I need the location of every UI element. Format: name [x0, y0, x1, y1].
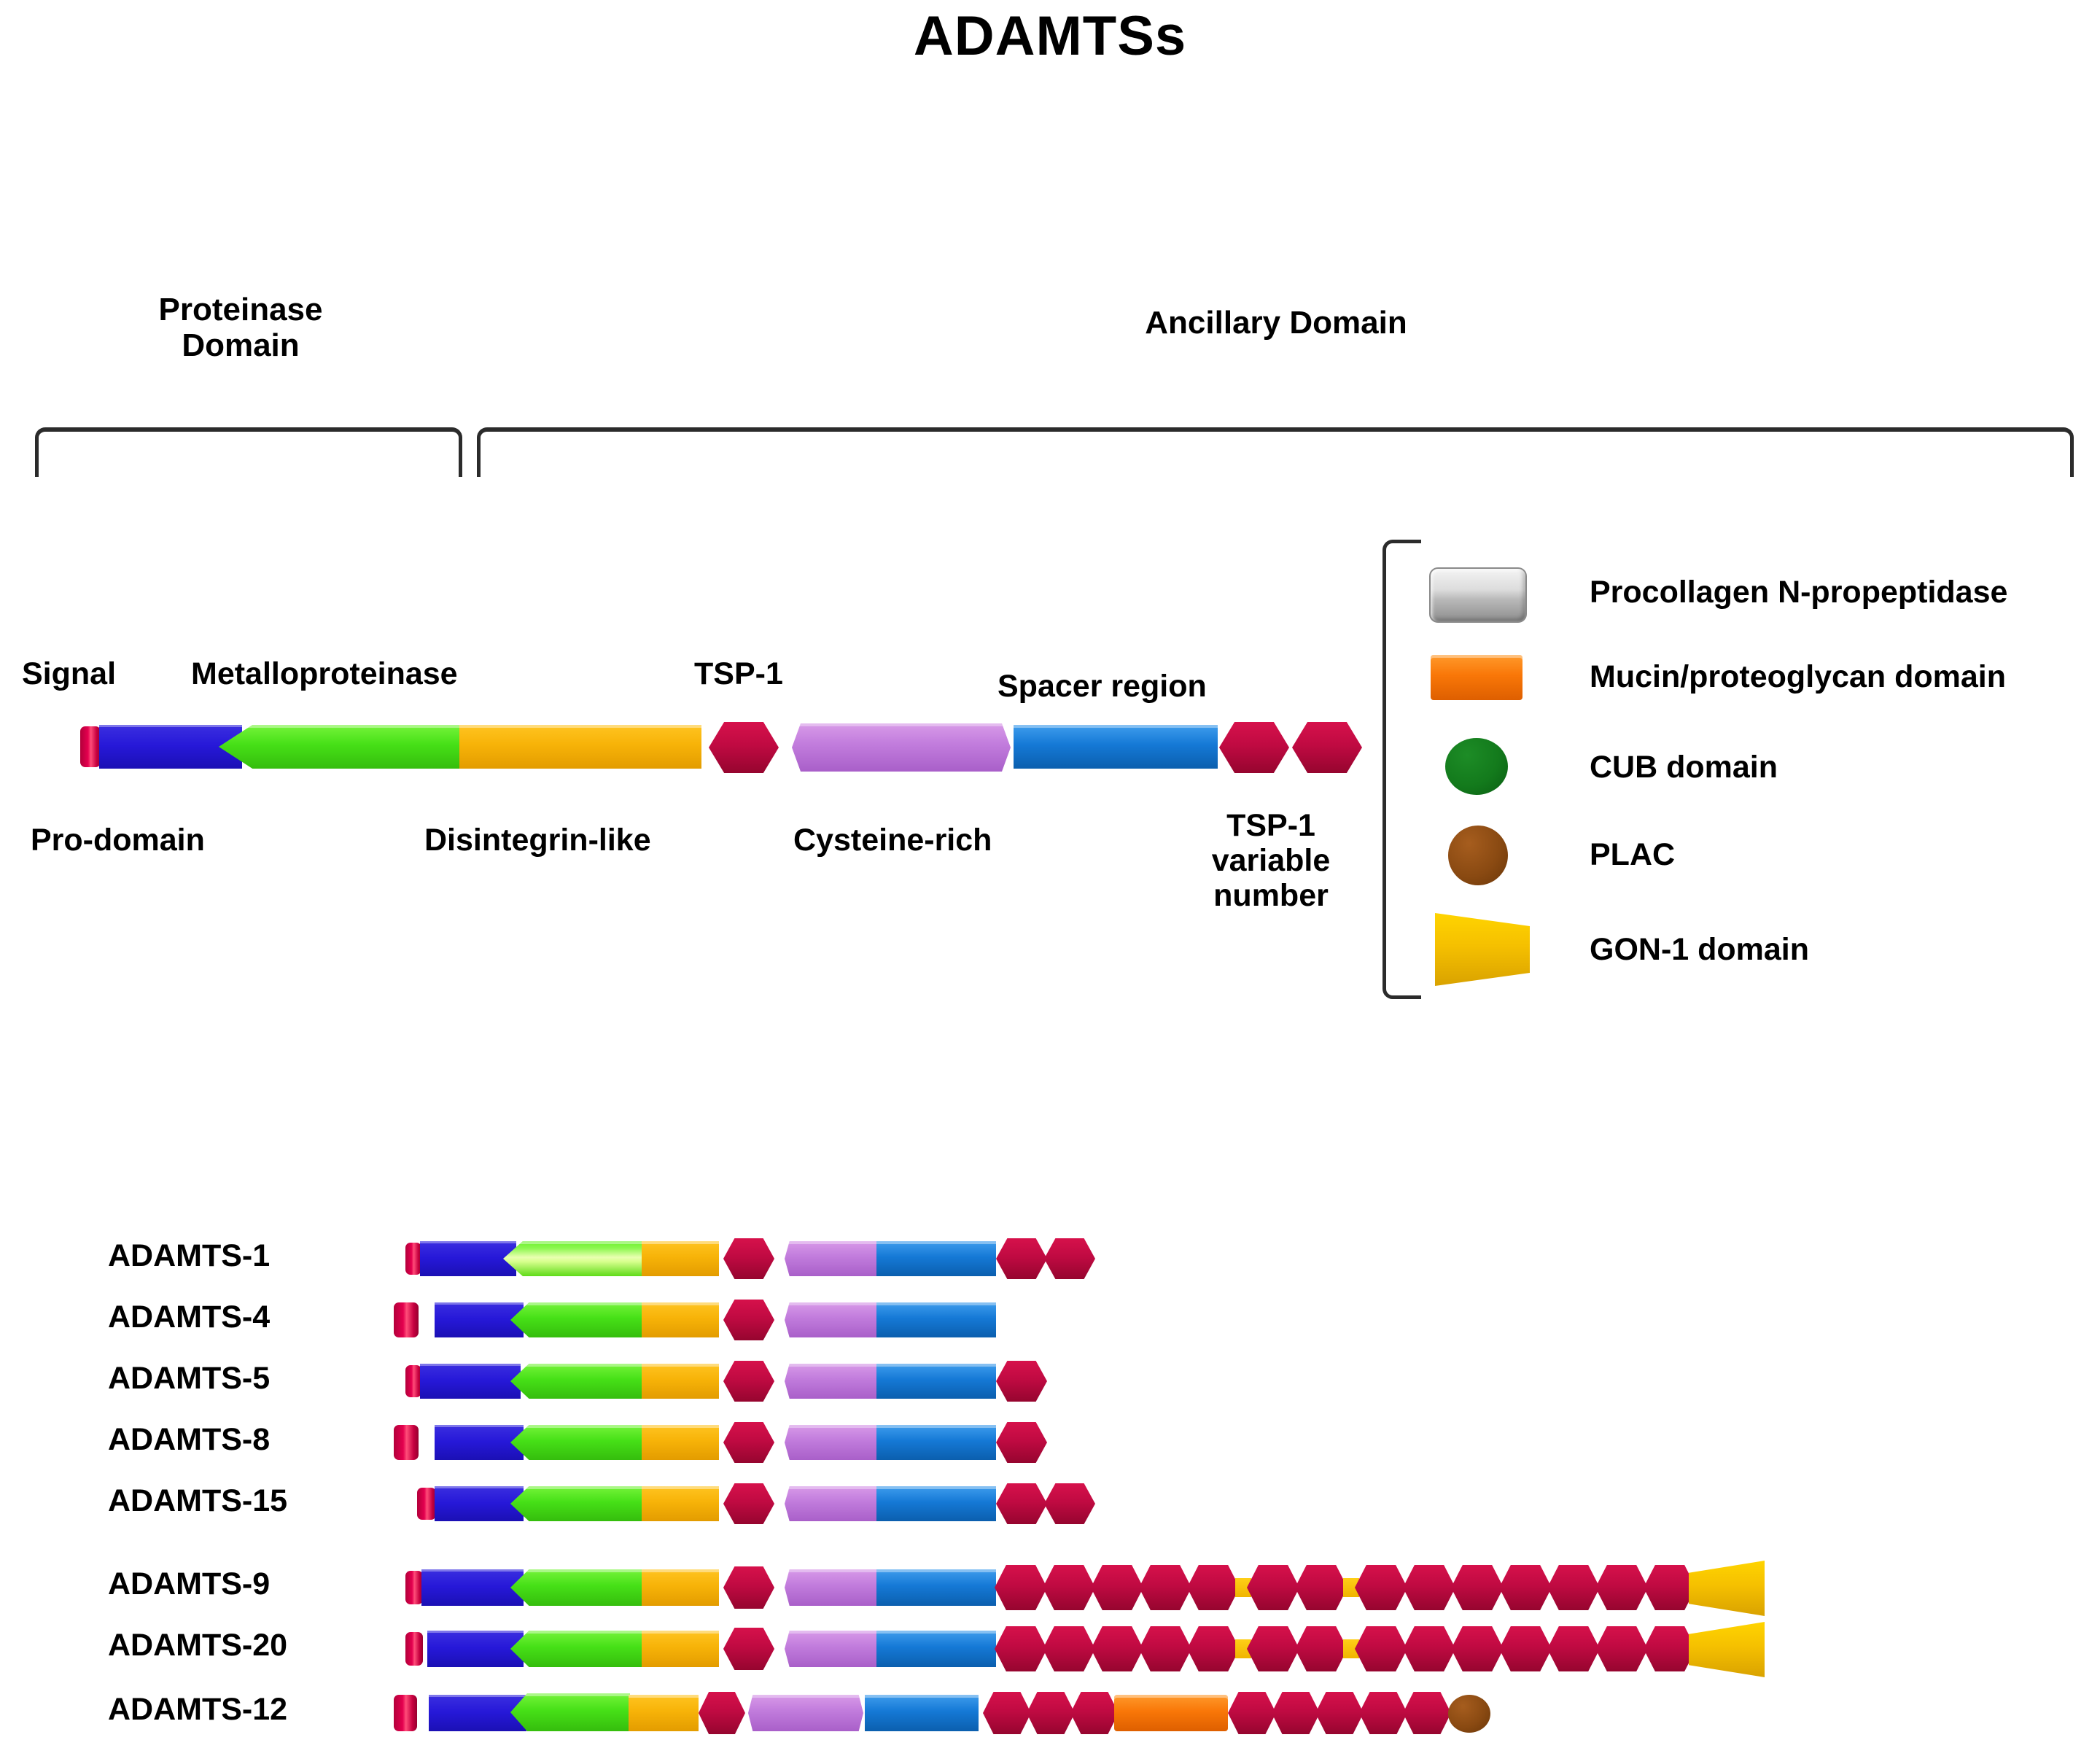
spacer-region-shape	[876, 1302, 996, 1337]
isoform-row-adamts-1: ADAMTS-1	[0, 1232, 2100, 1288]
tsp1-repeat-shape	[1295, 1626, 1347, 1671]
pro-domain-shape	[421, 1569, 524, 1606]
tsp1-repeat-shape	[1451, 1565, 1504, 1610]
tsp1-repeat-shape	[1091, 1626, 1143, 1671]
disintegrin-like-shape	[629, 1695, 699, 1731]
metalloproteinase-shape	[510, 1486, 643, 1521]
pro-domain-label: Pro-domain	[31, 823, 205, 858]
tsp1-repeat-shape	[723, 1566, 774, 1609]
metalloproteinase-shape	[503, 1241, 643, 1276]
isoform-label: ADAMTS-8	[108, 1422, 270, 1458]
pro-domain-shape	[427, 1631, 524, 1667]
tsp1-variable-number-label: TSP-1 variable number	[1180, 808, 1362, 913]
tsp1-repeat-shape	[1139, 1565, 1191, 1610]
cysteine-rich-shape	[792, 723, 1011, 772]
signal-peptide-shape	[405, 1571, 423, 1604]
tsp1-variable-number-line2: variable	[1180, 843, 1362, 878]
tsp1-repeat-shape	[723, 1300, 774, 1340]
disintegrin-like-shape	[642, 1569, 719, 1606]
tsp1-repeat-shape	[1295, 1565, 1347, 1610]
tsp1-repeat-shape	[996, 1483, 1047, 1524]
metalloproteinase-shape	[510, 1302, 643, 1337]
tsp1-repeat-shape	[1070, 1692, 1119, 1734]
tsp1-repeat-shape	[995, 1565, 1047, 1610]
signal-label: Signal	[22, 656, 116, 692]
disintegrin-like-shape	[642, 1486, 719, 1521]
signal-peptide-shape	[394, 1425, 419, 1460]
tsp1-repeat-shape	[1228, 1692, 1276, 1734]
tsp1-repeat-shape	[1247, 1565, 1299, 1610]
tsp1-repeat-shape	[1403, 1692, 1451, 1734]
tsp1-repeat-shape	[1027, 1692, 1075, 1734]
tsp1-repeat-shape	[723, 1628, 774, 1670]
disintegrin-like-shape	[642, 1302, 719, 1337]
plac-shape	[1448, 1695, 1490, 1733]
isoform-label: ADAMTS-15	[108, 1483, 287, 1519]
isoform-label: ADAMTS-4	[108, 1300, 270, 1335]
page-title: ADAMTSs	[0, 4, 2100, 68]
disintegrin-like-shape	[642, 1364, 719, 1399]
isoform-row-adamts-12: ADAMTS-12	[0, 1685, 2100, 1740]
spacer-region-shape	[876, 1425, 996, 1460]
tsp1-repeat-shape	[1315, 1692, 1364, 1734]
tsp1-repeat-shape	[709, 722, 779, 773]
tsp1-repeat-shape	[1355, 1565, 1407, 1610]
spacer-region-shape	[1014, 725, 1218, 769]
tsp1-repeat-shape	[1091, 1565, 1143, 1610]
mucin-proteoglycan-domain-swatch	[1431, 655, 1522, 700]
legend-label-gon1-domain: GON-1 domain	[1590, 932, 1809, 968]
ancillary-domain-bracket	[477, 427, 2074, 477]
proteinase-domain-label: Proteinase Domain	[80, 292, 401, 364]
metalloproteinase-label: Metalloproteinase	[191, 656, 458, 692]
tsp1-repeat-shape	[1595, 1565, 1648, 1610]
isoform-row-adamts-4: ADAMTS-4	[0, 1294, 2100, 1349]
isoform-label: ADAMTS-5	[108, 1361, 270, 1397]
ancillary-domain-label: Ancillary Domain	[875, 305, 1677, 341]
spacer-region-shape	[876, 1241, 996, 1276]
tsp1-repeat-shape	[723, 1483, 774, 1524]
isoform-label: ADAMTS-20	[108, 1628, 287, 1663]
cub-domain-swatch	[1445, 738, 1508, 795]
isoform-list: ADAMTS-1 ADAMTS-4 ADAMTS-5 ADAMTS-8	[0, 1232, 2100, 1739]
tsp1-repeat-shape	[996, 1361, 1047, 1402]
tsp1-repeat-shape	[1272, 1692, 1320, 1734]
tsp1-repeat-shape	[1547, 1626, 1600, 1671]
isoform-label: ADAMTS-12	[108, 1692, 287, 1728]
signal-peptide-shape	[394, 1695, 417, 1731]
tsp1-repeat-shape	[1355, 1626, 1407, 1671]
procollagen-n-propeptidase-swatch	[1429, 567, 1527, 623]
proteinase-domain-label-line2: Domain	[80, 327, 401, 363]
tsp1-variable-number-line1: TSP-1	[1180, 808, 1362, 843]
tsp1-repeat-shape	[996, 1422, 1047, 1463]
isoform-row-adamts-8: ADAMTS-8	[0, 1416, 2100, 1472]
legend-label-cub-domain: CUB domain	[1590, 750, 1778, 785]
tsp1-repeat-shape	[1139, 1626, 1191, 1671]
tsp1-repeat-shape	[995, 1626, 1047, 1671]
tsp1-repeat-shape	[1595, 1626, 1648, 1671]
tsp1-repeat-shape	[1187, 1626, 1240, 1671]
tsp1-repeat-shape	[1247, 1626, 1299, 1671]
tsp1-repeat-shape	[699, 1692, 745, 1734]
spacer-region-shape	[876, 1569, 996, 1606]
pro-domain-shape	[420, 1241, 516, 1276]
metalloproteinase-shape	[510, 1425, 643, 1460]
signal-peptide-shape	[405, 1632, 423, 1666]
gon1-domain-swatch	[1435, 913, 1530, 986]
tsp1-repeat-shape	[1499, 1626, 1552, 1671]
tsp1-repeat-shape	[1644, 1626, 1696, 1671]
tsp1-repeat-shape	[1044, 1238, 1095, 1279]
gon1-domain-shape	[1689, 1622, 1765, 1677]
signal-peptide-shape	[405, 1243, 421, 1275]
tsp1-repeat-shape	[1644, 1565, 1696, 1610]
tsp1-repeat-shape	[1043, 1565, 1095, 1610]
tsp1-repeat-shape	[1403, 1565, 1455, 1610]
pro-domain-shape	[435, 1486, 524, 1521]
tsp1-repeat-shape	[1043, 1626, 1095, 1671]
tsp1-repeat-shape	[723, 1422, 774, 1463]
pro-domain-shape	[435, 1302, 524, 1337]
signal-peptide-shape	[417, 1488, 436, 1520]
tsp1-repeat-shape	[723, 1361, 774, 1402]
spacer-region-shape	[876, 1364, 996, 1399]
metalloproteinase-shape	[510, 1693, 630, 1731]
tsp1-repeat-shape	[983, 1692, 1031, 1734]
spacer-region-shape	[876, 1486, 996, 1521]
cysteine-rich-shape	[748, 1695, 863, 1731]
disintegrin-like-shape	[642, 1631, 719, 1667]
metalloproteinase-shape	[219, 725, 459, 769]
tsp1-repeat-shape	[1359, 1692, 1407, 1734]
tsp1-repeat-shape	[1451, 1626, 1504, 1671]
tsp1-repeat-shape	[1499, 1565, 1552, 1610]
tsp1-repeat-shape	[1219, 722, 1289, 773]
isoform-row-adamts-15: ADAMTS-15	[0, 1477, 2100, 1533]
isoform-label: ADAMTS-9	[108, 1566, 270, 1602]
spacer-region-shape	[865, 1695, 979, 1731]
disintegrin-like-shape	[642, 1241, 719, 1276]
plac-swatch	[1448, 826, 1508, 885]
isoform-row-adamts-20: ADAMTS-20	[0, 1620, 2100, 1680]
pro-domain-shape	[420, 1364, 521, 1399]
signal-peptide-shape	[405, 1365, 421, 1397]
metalloproteinase-shape	[510, 1364, 643, 1399]
tsp1-variable-number-line3: number	[1180, 878, 1362, 913]
tsp1-repeat-shape	[1187, 1565, 1240, 1610]
proteinase-domain-label-line1: Proteinase	[80, 292, 401, 327]
gon1-domain-shape	[1689, 1561, 1765, 1616]
isoform-row-adamts-5: ADAMTS-5	[0, 1355, 2100, 1410]
cysteine-rich-label: Cysteine-rich	[793, 823, 992, 858]
signal-peptide-shape	[80, 726, 101, 767]
legend-bracket	[1382, 540, 1421, 999]
spacer-region-shape	[876, 1631, 996, 1667]
metalloproteinase-shape	[510, 1569, 643, 1606]
pro-domain-shape	[435, 1425, 524, 1460]
isoform-label: ADAMTS-1	[108, 1238, 270, 1274]
disintegrin-like-shape	[642, 1425, 719, 1460]
legend-label-plac: PLAC	[1590, 837, 1675, 873]
legend: Procollagen N-propeptidase Mucin/proteog…	[1429, 540, 2085, 992]
tsp1-repeat-shape	[723, 1238, 774, 1279]
metalloproteinase-shape	[510, 1631, 643, 1667]
tsp1-repeat-shape	[1044, 1483, 1095, 1524]
tsp1-repeat-shape	[996, 1238, 1047, 1279]
spacer-region-label: Spacer region	[997, 669, 1207, 704]
tsp1-repeat-shape	[1403, 1626, 1455, 1671]
legend-label-mucin-proteoglycan-domain: Mucin/proteoglycan domain	[1590, 659, 2006, 695]
isoform-row-adamts-9: ADAMTS-9	[0, 1559, 2100, 1619]
tsp1-repeat-shape	[1292, 722, 1362, 773]
disintegrin-like-shape	[459, 725, 701, 769]
mucin-proteoglycan-domain-shape	[1114, 1695, 1228, 1731]
disintegrin-like-label: Disintegrin-like	[424, 823, 651, 858]
proteinase-domain-bracket	[35, 427, 462, 477]
legend-label-procollagen-n-propeptidase: Procollagen N-propeptidase	[1590, 575, 2007, 610]
tsp1-label: TSP-1	[694, 656, 783, 692]
signal-peptide-shape	[394, 1302, 419, 1337]
tsp1-repeat-shape	[1547, 1565, 1600, 1610]
